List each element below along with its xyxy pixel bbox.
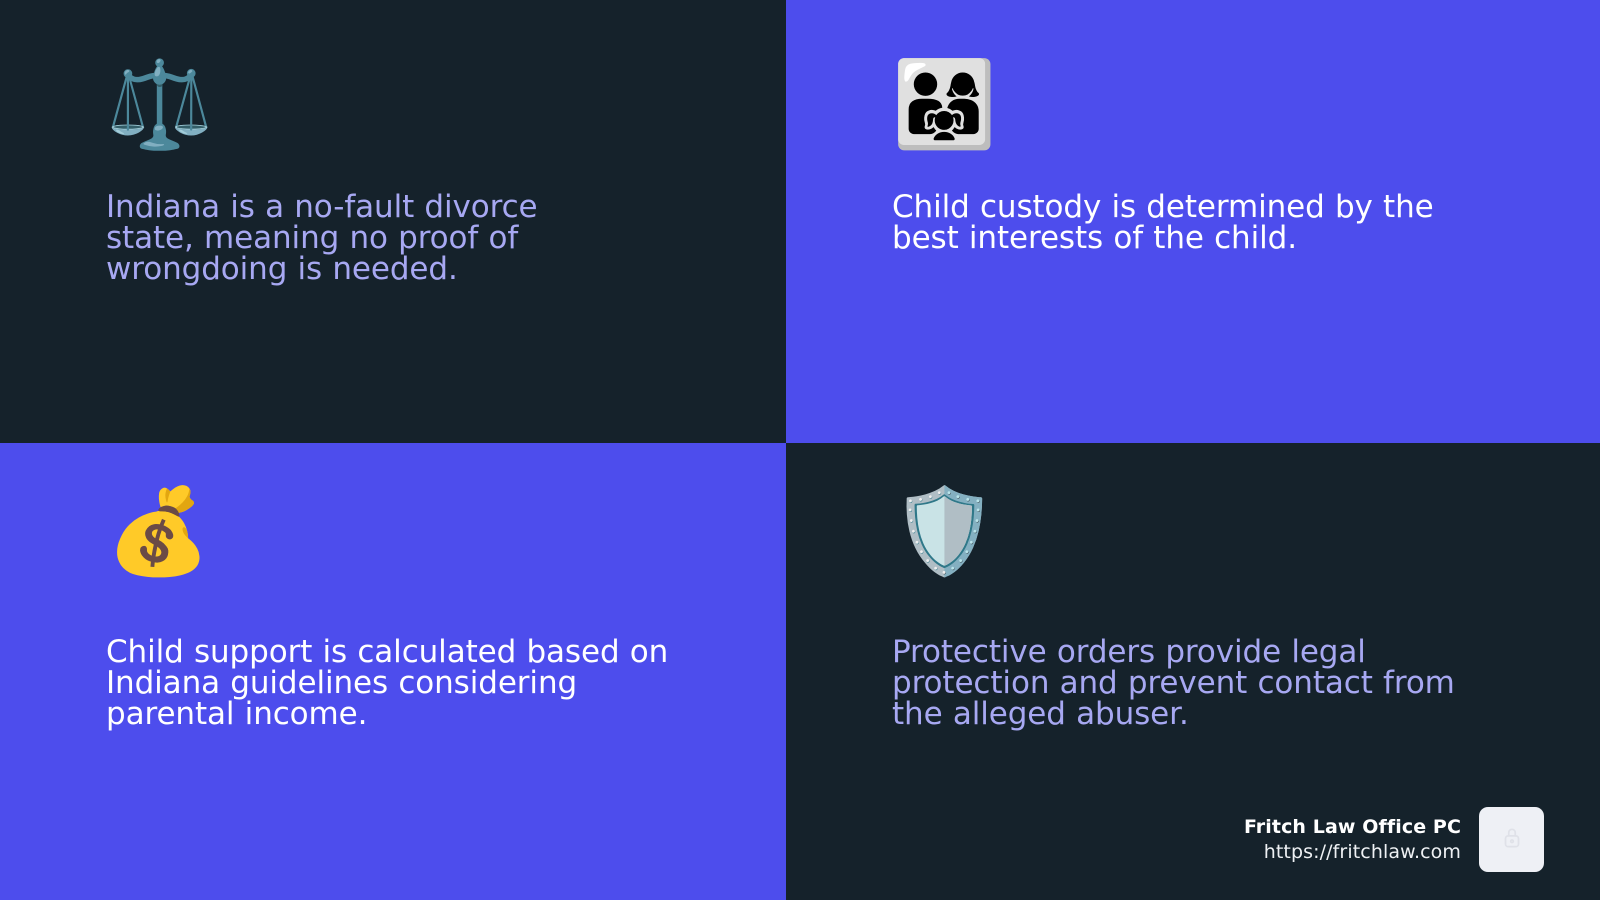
brand-name: Fritch Law Office PC	[1244, 816, 1461, 838]
branding-texts: Fritch Law Office PC https://fritchlaw.c…	[1244, 816, 1461, 863]
fact-panel-protective-orders: 🛡️ Protective orders provide legal prote…	[786, 443, 1600, 900]
fact-panel-child-support: 💰 Child support is calculated based on I…	[0, 443, 786, 900]
fact-text-custody: Child custody is determined by the best …	[892, 192, 1472, 254]
fact-panel-custody: 👨‍👩‍👧 Child custody is determined by the…	[786, 0, 1600, 443]
fact-text-child-support: Child support is calculated based on Ind…	[106, 637, 676, 730]
infographic-grid: ⚖️ Indiana is a no-fault divorce state, …	[0, 0, 1600, 900]
fact-text-divorce: Indiana is a no-fault divorce state, mea…	[106, 192, 626, 285]
fact-panel-divorce: ⚖️ Indiana is a no-fault divorce state, …	[0, 0, 786, 443]
money-bag-icon: 💰	[106, 489, 726, 593]
family-icon: 👨‍👩‍👧	[892, 62, 1520, 166]
brand-logo	[1479, 807, 1544, 872]
branding-block: Fritch Law Office PC https://fritchlaw.c…	[1244, 807, 1544, 872]
shield-icon: 🛡️	[892, 489, 1540, 593]
logo-placeholder-icon	[1499, 825, 1525, 855]
balance-scale-icon: ⚖️	[106, 62, 726, 166]
fact-text-protective-orders: Protective orders provide legal protecti…	[892, 637, 1472, 730]
brand-url[interactable]: https://fritchlaw.com	[1264, 841, 1461, 863]
